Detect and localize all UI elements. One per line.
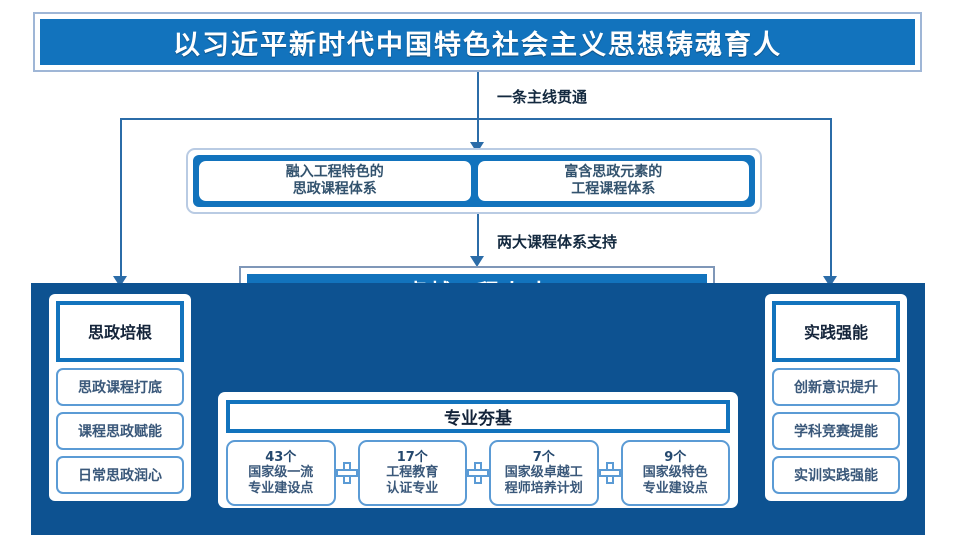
connector-courses-to-talent [477, 214, 479, 258]
major-card-2-line2: 认证专业 [386, 481, 438, 497]
course-card-ideology-line1: 融入工程特色的 [286, 164, 384, 182]
course-card-engineering-line1: 富含思政元素的 [564, 164, 662, 182]
major-card-2[interactable]: 17个 工程教育 认证专业 [358, 440, 468, 506]
pillar-ideological-heading: 思政培根 [56, 301, 184, 362]
page-title: 以习近平新时代中国特色社会主义思想铸魂育人 [40, 19, 915, 65]
pillar-practice-item-1[interactable]: 创新意识提升 [772, 368, 900, 406]
plus-icon [599, 462, 621, 484]
pillar-ideological-item-2[interactable]: 课程思政赋能 [56, 412, 184, 450]
plus-icon [467, 462, 489, 484]
pillar-practice: 实践强能 创新意识提升 学科竞赛提能 实训实践强能 [765, 294, 907, 501]
major-card-3-count: 7个 [533, 450, 555, 466]
major-card-2-line1: 工程教育 [386, 465, 438, 481]
connector-bus-to-left-pillar [120, 118, 122, 278]
major-card-4-line1: 国家级特色 [643, 465, 708, 481]
course-card-engineering-line2: 工程课程体系 [564, 181, 662, 199]
connector-bus-to-right-pillar [830, 118, 832, 278]
major-card-1-count: 43个 [265, 450, 296, 466]
major-card-3-line2: 程师培养计划 [505, 481, 583, 497]
pillar-practice-heading: 实践强能 [772, 301, 900, 362]
pillar-practice-item-2[interactable]: 学科竞赛提能 [772, 412, 900, 450]
major-card-4-line2: 专业建设点 [643, 481, 708, 497]
major-foundation-panel: 专业夯基 43个 国家级一流 专业建设点 17个 工程教育 认证专业 7个 国家… [218, 392, 738, 508]
major-heading: 专业夯基 [226, 400, 730, 433]
diagram-canvas: 以习近平新时代中国特色社会主义思想铸魂育人 一条主线贯通 融入工程特色的 思政课… [0, 0, 958, 547]
course-card-ideology-line2: 思政课程体系 [286, 181, 384, 199]
major-card-1[interactable]: 43个 国家级一流 专业建设点 [226, 440, 336, 506]
course-systems-container: 融入工程特色的 思政课程体系 富含思政元素的 工程课程体系 [186, 148, 762, 214]
major-card-4[interactable]: 9个 国家级特色 专业建设点 [621, 440, 731, 506]
course-card-engineering[interactable]: 富含思政元素的 工程课程体系 [478, 161, 750, 201]
pillar-ideological-item-1[interactable]: 思政课程打底 [56, 368, 184, 406]
connector-title-to-bus [477, 72, 479, 118]
pillar-ideological: 思政培根 思政课程打底 课程思政赋能 日常思政润心 [49, 294, 191, 501]
major-card-1-line2: 专业建设点 [248, 481, 313, 497]
connector-horizontal-bus [120, 118, 831, 120]
major-card-3[interactable]: 7个 国家级卓越工 程师培养计划 [489, 440, 599, 506]
connector-bus-to-courses [477, 118, 479, 144]
course-card-ideology[interactable]: 融入工程特色的 思政课程体系 [199, 161, 471, 201]
pillar-practice-item-3[interactable]: 实训实践强能 [772, 456, 900, 494]
diagram-title-frame: 以习近平新时代中国特色社会主义思想铸魂育人 [33, 12, 922, 72]
pillar-ideological-item-3[interactable]: 日常思政润心 [56, 456, 184, 494]
course-systems-band: 融入工程特色的 思政课程体系 富含思政元素的 工程课程体系 [193, 155, 755, 207]
major-card-4-count: 9个 [664, 450, 686, 466]
plus-icon [336, 462, 358, 484]
label-two-systems: 两大课程体系支持 [497, 231, 617, 252]
label-main-line: 一条主线贯通 [497, 86, 587, 107]
major-card-row: 43个 国家级一流 专业建设点 17个 工程教育 认证专业 7个 国家级卓越工 … [226, 440, 730, 506]
major-card-1-line1: 国家级一流 [248, 465, 313, 481]
major-card-2-count: 17个 [397, 450, 428, 466]
major-card-3-line1: 国家级卓越工 [505, 465, 583, 481]
